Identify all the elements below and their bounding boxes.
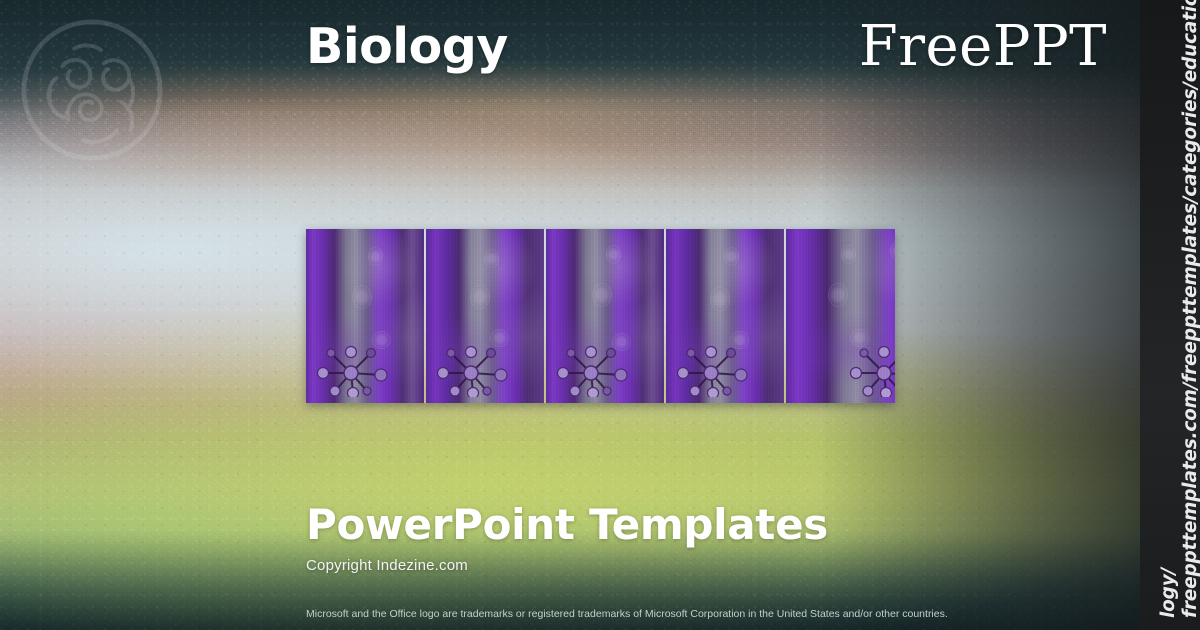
page-title: Biology — [306, 18, 508, 75]
copyright-text: Copyright Indezine.com — [306, 557, 468, 574]
legal-trademark-notice: Microsoft and the Office logo are tradem… — [306, 608, 948, 620]
slide-noise — [546, 229, 664, 403]
biology-slide-thumb-2[interactable] — [426, 229, 544, 403]
biology-slide-thumb-3[interactable] — [546, 229, 664, 403]
sidebar-url-line-1[interactable]: freeppttemplates.com/freeppttemplates/ca… — [1180, 0, 1200, 618]
slide-noise — [426, 229, 544, 403]
brand-logo-text: FreePPT — [859, 14, 1107, 79]
slide-noise — [786, 229, 895, 403]
sidebar-url-line-2[interactable]: logy/ — [1158, 568, 1179, 618]
slide-thumbnail-strip[interactable] — [306, 229, 895, 403]
slide-noise — [666, 229, 784, 403]
url-sidebar: freeppttemplates.com/freeppttemplates/ca… — [1140, 0, 1200, 630]
biology-slide-preview-wide[interactable] — [786, 229, 895, 403]
headline-powerpoint-templates: PowerPoint Templates — [306, 500, 828, 549]
biology-slide-thumb-4[interactable] — [666, 229, 784, 403]
slide-noise — [306, 229, 424, 403]
slide-preview-card: Biology FreePPT — [0, 0, 1200, 630]
biology-slide-thumb-1[interactable] — [306, 229, 424, 403]
